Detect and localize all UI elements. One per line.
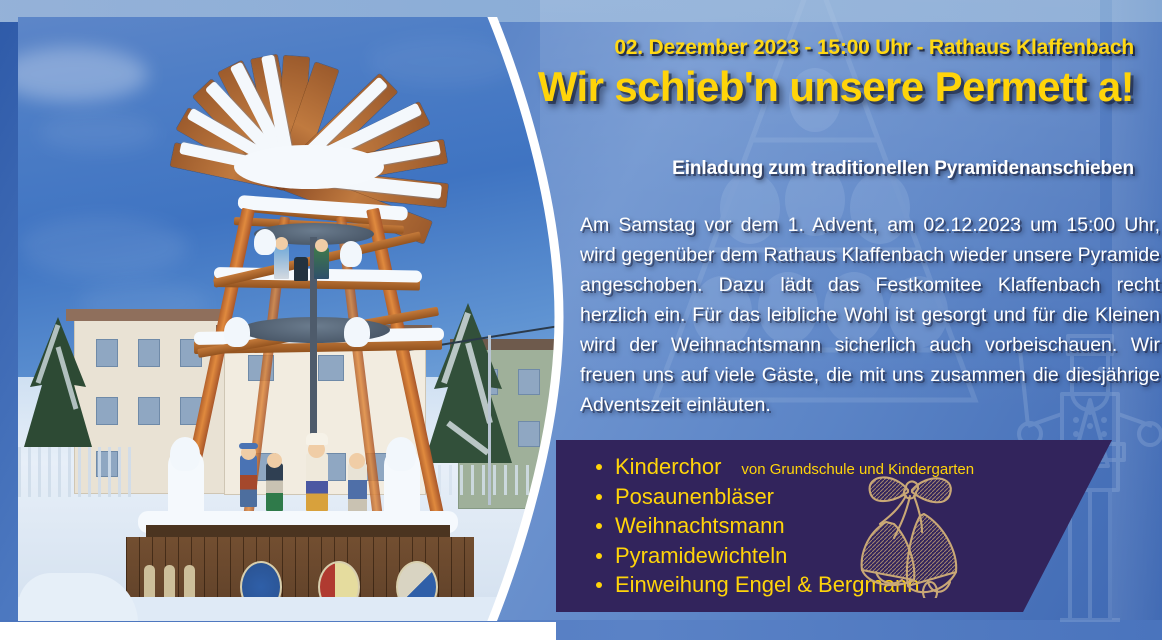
list-item: Pyramidewichteln	[596, 543, 1066, 573]
photo-bottom-white-strip	[0, 622, 556, 640]
program-list: Kinderchor von Grundschule und Kindergar…	[596, 454, 1066, 602]
bullet-dot-icon	[596, 553, 602, 559]
program-item-label: Posaunenbläser	[615, 484, 774, 510]
list-item: Kinderchor von Grundschule und Kindergar…	[596, 454, 1066, 484]
bullet-dot-icon	[596, 523, 602, 529]
photo-arc-border	[18, 17, 578, 621]
program-item-label: Weihnachtsmann	[615, 513, 785, 539]
bullet-dot-icon	[596, 464, 602, 470]
event-subtitle: Einladung zum traditionellen Pyramidenan…	[672, 158, 1134, 180]
event-description: Am Samstag vor dem 1. Advent, am 02.12.2…	[580, 210, 1160, 420]
program-item-label: Pyramidewichteln	[615, 543, 787, 569]
program-panel: Kinderchor von Grundschule und Kindergar…	[556, 440, 1112, 612]
list-item: Weihnachtsmann	[596, 513, 1066, 543]
bullet-dot-icon	[596, 494, 602, 500]
list-item: Posaunenbläser	[596, 484, 1066, 514]
event-poster: 02. Dezember 2023 - 15:00 Uhr - Rathaus …	[0, 0, 1162, 640]
bells-icon	[836, 468, 986, 598]
program-item-label: Kinderchor	[615, 454, 721, 480]
page-title: Wir schieb'n unsere Permett a!	[538, 66, 1134, 108]
list-item: Einweihung Engel & Bergmann	[596, 572, 1066, 602]
bullet-dot-icon	[596, 582, 602, 588]
pyramid-photo	[18, 17, 578, 621]
event-kicker: 02. Dezember 2023 - 15:00 Uhr - Rathaus …	[614, 36, 1134, 60]
